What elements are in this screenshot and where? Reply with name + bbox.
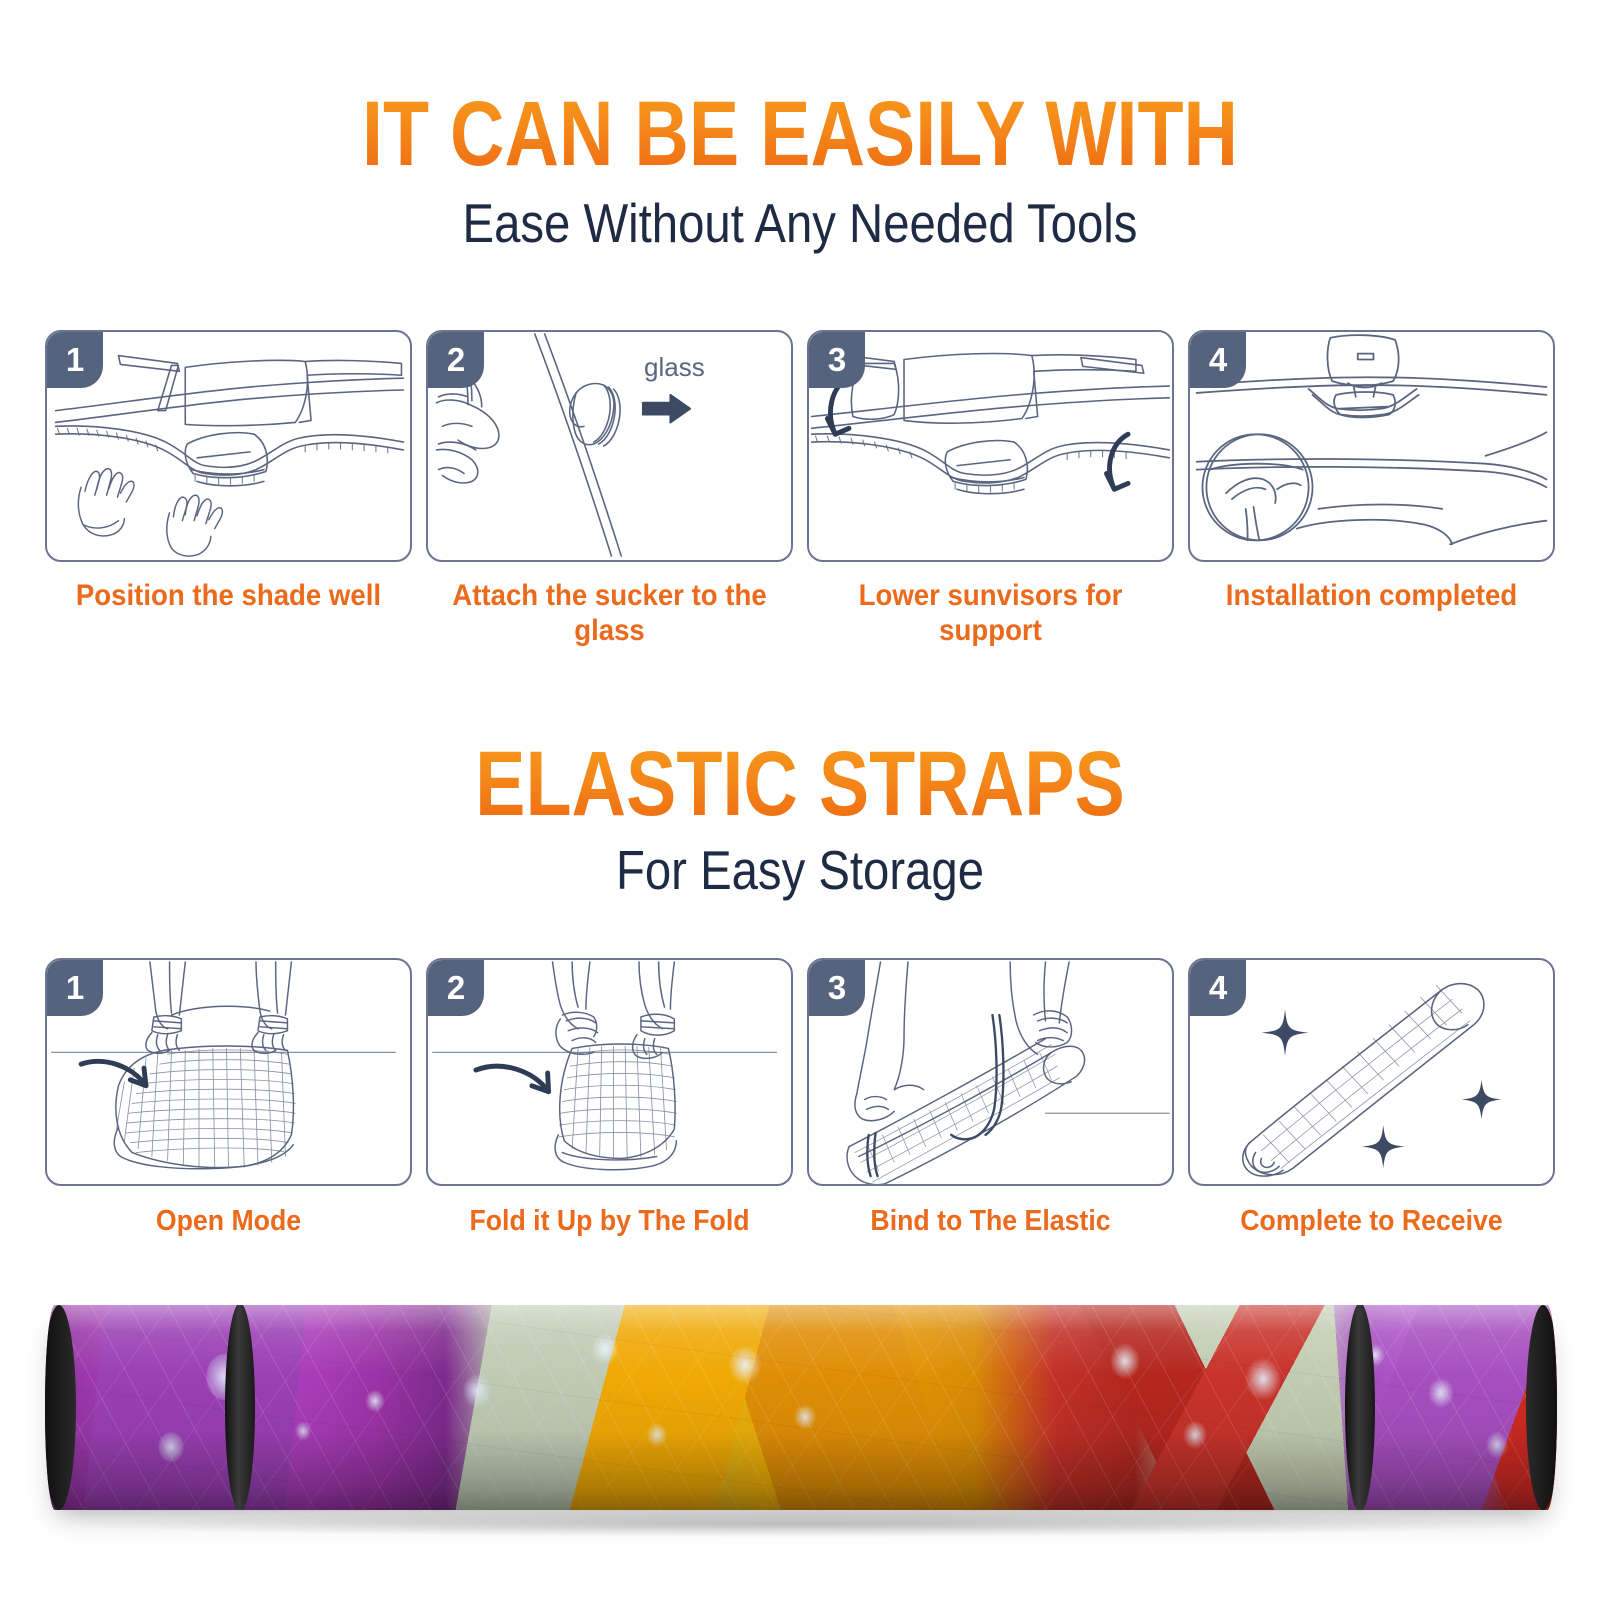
elastic-strap-left xyxy=(225,1305,255,1510)
install-step-1-caption: Position the shade well xyxy=(60,578,398,613)
install-step-1: 1 xyxy=(45,330,412,649)
install-step-4-panel: 4 xyxy=(1188,330,1555,562)
product-photo-rolled-sunshade xyxy=(45,1305,1557,1510)
install-step-2: 2 glass xyxy=(426,330,793,649)
storage-step-3-panel: 3 xyxy=(807,958,1174,1186)
storage-step-1: 1 xyxy=(45,958,412,1238)
storage-step-3-caption: Bind to The Elastic xyxy=(822,1204,1160,1238)
step-number-badge: 3 xyxy=(809,332,865,388)
storage-step-1-panel: 1 xyxy=(45,958,412,1186)
infographic-page: IT CAN BE EASILY WITH Ease Without Any N… xyxy=(0,0,1600,1600)
storage-step-4: 4 xyxy=(1188,958,1555,1238)
storage-section-subtitle: For Easy Storage xyxy=(112,843,1488,898)
install-step-3: 3 xyxy=(807,330,1174,649)
step-number-badge: 2 xyxy=(428,332,484,388)
install-step-3-caption: Lower sunvisors for support xyxy=(822,578,1160,649)
storage-section-title: ELASTIC STRAPS xyxy=(144,738,1456,830)
install-step-2-panel: 2 glass xyxy=(426,330,793,562)
step-number-badge: 2 xyxy=(428,960,484,1016)
storage-step-3: 3 xyxy=(807,958,1174,1238)
storage-step-2-panel: 2 xyxy=(426,958,793,1186)
product-drop-shadow xyxy=(85,1511,1517,1537)
install-step-4: 4 xyxy=(1188,330,1555,649)
storage-step-2-caption: Fold it Up by The Fold xyxy=(441,1204,779,1238)
step-number-badge: 4 xyxy=(1190,960,1246,1016)
storage-steps-row: 1 xyxy=(45,958,1555,1238)
install-step-1-panel: 1 xyxy=(45,330,412,562)
install-step-4-caption: Installation completed xyxy=(1203,578,1541,613)
storage-step-4-panel: 4 xyxy=(1188,958,1555,1186)
install-step-3-panel: 3 xyxy=(807,330,1174,562)
installation-section-subtitle: Ease Without Any Needed Tools xyxy=(112,196,1488,251)
storage-step-2: 2 xyxy=(426,958,793,1238)
cylinder-shading xyxy=(45,1305,1557,1510)
installation-steps-row: 1 xyxy=(45,330,1555,649)
step-number-badge: 3 xyxy=(809,960,865,1016)
storage-step-1-caption: Open Mode xyxy=(60,1204,398,1238)
installation-section-title: IT CAN BE EASILY WITH xyxy=(144,88,1456,180)
step-number-badge: 1 xyxy=(47,332,103,388)
install-step-2-caption: Attach the sucker to the glass xyxy=(441,578,779,649)
step-number-badge: 4 xyxy=(1190,332,1246,388)
roll-end-cap-right xyxy=(1526,1305,1557,1510)
step-number-badge: 1 xyxy=(47,960,103,1016)
elastic-strap-right xyxy=(1345,1305,1375,1510)
storage-step-4-caption: Complete to Receive xyxy=(1203,1204,1541,1238)
glass-annotation-label: glass xyxy=(644,352,705,383)
rolled-sunshade xyxy=(45,1305,1557,1510)
